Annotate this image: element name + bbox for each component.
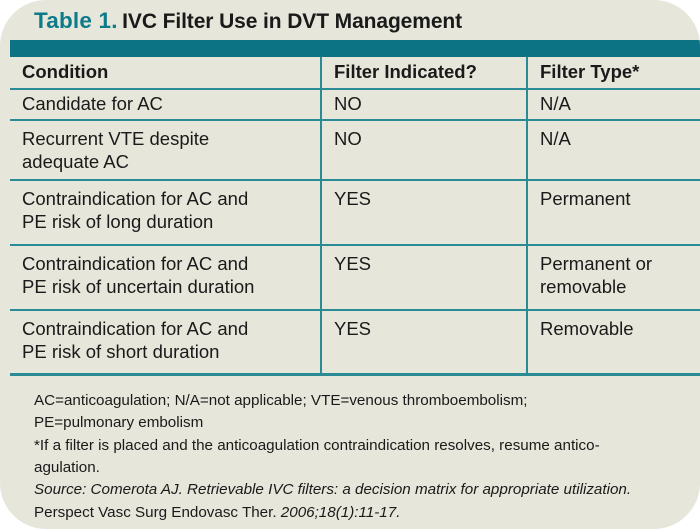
table-footnotes: AC=anticoagulation; N/A=not applicable; … [0,376,700,524]
filter-type-line-1: N/A [540,93,571,116]
filter-type-line-1: Removable [540,318,634,341]
table-card: Table 1. IVC Filter Use in DVT Managemen… [0,0,700,529]
cell-condition: Contraindication for AC and PE risk of l… [10,181,322,244]
table-row: Contraindication for AC and PE risk of u… [10,246,700,311]
source-volume-pages: 2006;18(1):11-17. [281,504,401,521]
filter-type-line-2: removable [540,276,652,299]
table-title-text: IVC Filter Use in DVT Management [122,10,462,33]
cell-filter-indicated: YES [322,246,528,309]
asterisk-footnote-line-1: *If a filter is placed and the anticoagu… [34,435,678,457]
table-header-row: Condition Filter Indicated? Filter Type* [10,57,700,90]
condition-line-2: PE risk of uncertain duration [22,276,254,299]
cell-filter-type: N/A [528,121,700,179]
filter-type-line-1: Permanent or [540,253,652,276]
data-table: Condition Filter Indicated? Filter Type*… [10,57,700,376]
cell-condition: Recurrent VTE despite adequate AC [10,121,322,179]
cell-condition: Candidate for AC [10,90,322,119]
source-journal-name: Perspect Vasc Surg Endovasc Ther. [34,504,277,521]
cell-filter-indicated: NO [322,90,528,119]
table-number-label: Table 1. [34,8,118,33]
condition-line-2: PE risk of long duration [22,211,248,234]
source-citation-line-1: Source: Comerota AJ. Retrievable IVC fil… [34,479,678,501]
condition-line-2: adequate AC [22,151,209,174]
filter-type-line-1: N/A [540,128,571,151]
column-header-condition: Condition [10,57,322,88]
cell-filter-indicated: YES [322,311,528,373]
condition-line-1: Recurrent VTE despite [22,128,209,151]
condition-line-1: Contraindication for AC and [22,188,248,211]
abbreviations-line-2: PE=pulmonary embolism [34,412,678,434]
cell-filter-type: Permanent or removable [528,246,700,309]
column-header-filter-indicated: Filter Indicated? [322,57,528,88]
condition-line-1: Contraindication for AC and [22,318,248,341]
cell-filter-indicated: NO [322,121,528,179]
column-header-filter-type: Filter Type* [528,57,700,88]
condition-line-1: Contraindication for AC and [22,253,254,276]
cell-filter-type: N/A [528,90,700,119]
table-row: Contraindication for AC and PE risk of l… [10,181,700,246]
cell-condition: Contraindication for AC and PE risk of u… [10,246,322,309]
abbreviations-line-1: AC=anticoagulation; N/A=not applicable; … [34,390,678,412]
cell-filter-indicated: YES [322,181,528,244]
source-citation-line-2: Perspect Vasc Surg Endovasc Ther. 2006;1… [34,502,678,524]
table-row: Candidate for AC NO N/A [10,90,700,121]
condition-line-1: Candidate for AC [22,93,163,116]
table-row: Recurrent VTE despite adequate AC NO N/A [10,121,700,181]
filter-type-line-1: Permanent [540,188,631,211]
page-title: Table 1. IVC Filter Use in DVT Managemen… [0,0,700,40]
accent-band [10,40,700,57]
table-row: Contraindication for AC and PE risk of s… [10,311,700,376]
condition-line-2: PE risk of short duration [22,341,248,364]
cell-filter-type: Permanent [528,181,700,244]
cell-condition: Contraindication for AC and PE risk of s… [10,311,322,373]
asterisk-footnote-line-2: agulation. [34,457,678,479]
cell-filter-type: Removable [528,311,700,373]
